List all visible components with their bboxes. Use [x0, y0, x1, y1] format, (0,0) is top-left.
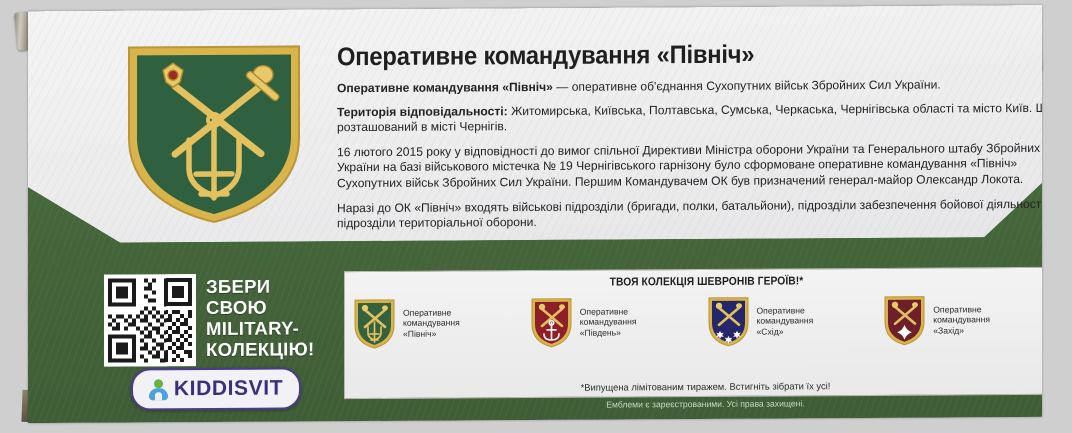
kiddisvit-mark-icon	[149, 379, 168, 400]
collection-caption-south: Оперативнекомандування«Південь»	[580, 296, 637, 338]
paragraph-definition: Оперативне командування «Північ» — опера…	[337, 77, 1042, 97]
page-title: Оперативне командування «Північ»	[337, 39, 988, 72]
package-back-panel: Оперативне командування «Північ» Операти…	[28, 5, 1042, 423]
paragraph-definition-bold: Оперативне командування «Північ»	[337, 80, 553, 95]
promo-slogan-line-3: колекцію!	[206, 338, 331, 360]
promo-slogan-line-1: Збери свою	[206, 275, 331, 318]
chevron-south-icon	[530, 297, 573, 349]
qr-code[interactable]	[104, 274, 196, 367]
product-description: Оперативне командування «Північ» — опера…	[337, 77, 1042, 232]
package-photo: Оперативне командування «Північ» Операти…	[0, 0, 1072, 433]
kiddisvit-wordmark: KIDDISVIT	[174, 377, 283, 402]
collection-caption-east: Оперативнекомандування«Схід»	[757, 295, 814, 337]
promo-slogan: Збери свою MILITARY- колекцію!	[206, 275, 331, 360]
chevron-north-icon	[353, 298, 396, 350]
collection-item-west: Оперативнекомандування«Захід»	[883, 294, 1042, 347]
paragraph-current-text: Наразі до ОК «Північ» входять військові …	[337, 196, 1042, 230]
collection-item-south: Оперативнекомандування«Південь»	[530, 296, 707, 349]
collection-caption-west: Оперативнекомандування«Захід»	[933, 294, 990, 336]
chevron-west-icon	[883, 295, 926, 347]
paragraph-territory: Територія відповідальності: Житомирська,…	[337, 100, 1042, 136]
collection-item-east: Оперативнекомандування«Схід»	[707, 295, 884, 348]
collection-caption-north: Оперативнекомандування«Північ»	[403, 297, 460, 339]
collection-item-north: Оперативнекомандування«Північ»	[353, 297, 530, 350]
collection-row: Оперативнекомандування«Північ»	[353, 294, 1042, 350]
paragraph-history: 16 лютого 2015 року у відповідності до в…	[337, 140, 1042, 191]
promo-slogan-line-2: MILITARY-	[206, 317, 331, 339]
paragraph-history-text: 16 лютого 2015 року у відповідності до в…	[337, 141, 1042, 191]
kiddisvit-logo: KIDDISVIT	[131, 367, 301, 410]
paragraph-definition-rest: — оперативне об'єднання Сухопутних війсь…	[553, 78, 941, 94]
chevron-east-icon	[707, 296, 750, 348]
paragraph-current: Наразі до ОК «Північ» входять військові …	[337, 196, 1042, 232]
operational-command-north-emblem	[123, 41, 305, 227]
paragraph-territory-bold: Територія відповідальності:	[337, 104, 508, 119]
collection-title: ТВОЯ КОЛЕКЦІЯ ШЕВРОНІВ ГЕРОЇВ!*	[381, 274, 1032, 290]
